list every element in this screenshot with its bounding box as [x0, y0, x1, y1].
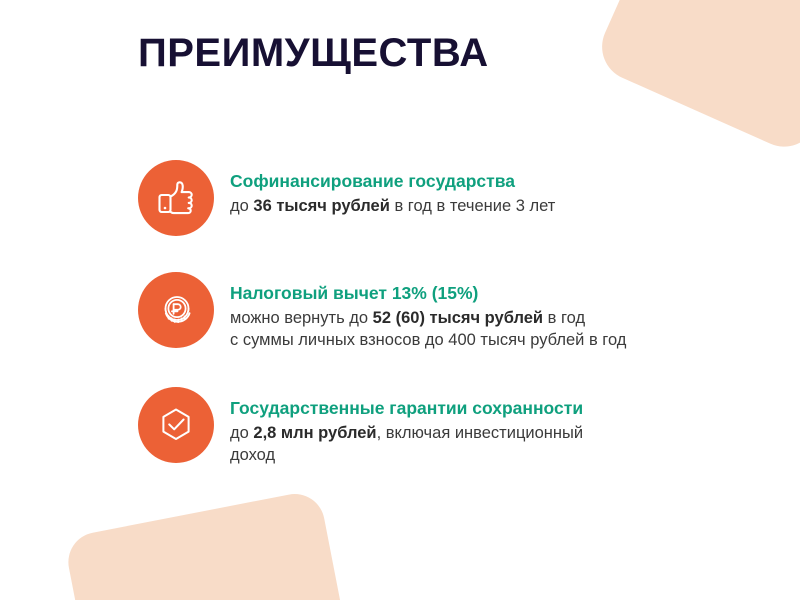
slide-root: ПРЕИМУЩЕСТВА Софинансирование государств… — [0, 0, 800, 600]
benefit-line: до 36 тысяч рублей в год в течение 3 лет — [230, 195, 555, 217]
benefit-text: Софинансирование государства до 36 тысяч… — [230, 160, 555, 217]
benefit-item: Государственные гарантии сохранности до … — [138, 387, 758, 466]
page-title: ПРЕИМУЩЕСТВА — [138, 30, 489, 76]
benefit-item: Налоговый вычет 13% (15%) можно вернуть … — [138, 272, 758, 351]
benefit-line: с суммы личных взносов до 400 тысяч рубл… — [230, 329, 626, 351]
benefits-list: Софинансирование государства до 36 тысяч… — [138, 160, 758, 467]
benefit-heading: Софинансирование государства — [230, 170, 555, 193]
benefit-heading: Налоговый вычет 13% (15%) — [230, 282, 626, 305]
benefit-heading: Государственные гарантии сохранности — [230, 397, 583, 420]
benefit-text: Государственные гарантии сохранности до … — [230, 387, 583, 466]
hexagon-check-icon — [138, 387, 214, 463]
benefit-text: Налоговый вычет 13% (15%) можно вернуть … — [230, 272, 626, 351]
benefit-line: до 2,8 млн рублей, включая инвестиционны… — [230, 422, 583, 444]
benefit-line: доход — [230, 444, 583, 466]
thumbs-up-icon — [138, 160, 214, 236]
benefit-line: можно вернуть до 52 (60) тысяч рублей в … — [230, 307, 626, 329]
decorative-shape-bottom-left — [63, 489, 353, 600]
benefit-item: Софинансирование государства до 36 тысяч… — [138, 160, 758, 236]
decorative-shape-top-right — [591, 0, 800, 157]
ruble-coin-icon — [138, 272, 214, 348]
